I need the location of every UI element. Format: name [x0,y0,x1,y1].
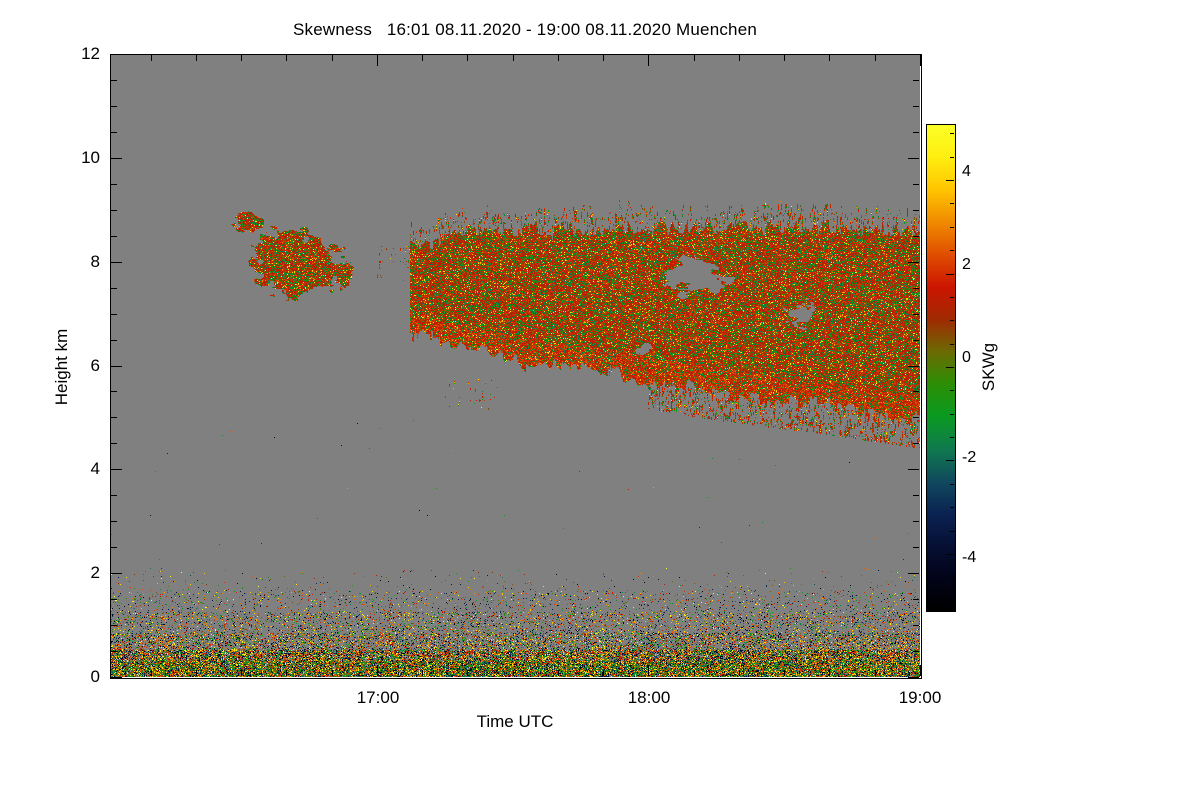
y-axis-title: Height km [52,329,72,406]
tick-mark [603,55,604,61]
tick-mark [111,599,117,600]
tick-mark [913,106,919,107]
tick-mark [908,262,919,263]
tick-mark [694,55,695,61]
tick-mark [950,227,954,228]
tick-mark [946,180,954,181]
tick-mark [913,288,919,289]
y-axis-labels: 12 10 8 6 4 2 0 [0,0,100,800]
tick-mark [920,665,921,676]
tick-mark [111,677,122,678]
tick-mark [111,106,117,107]
tick-mark [950,531,954,532]
tick-mark [950,320,954,321]
tick-mark [913,132,919,133]
tick-mark [950,344,954,345]
tick-mark [913,391,919,392]
tick-mark [950,250,954,251]
tick-mark [950,390,954,391]
tick-mark [913,599,919,600]
tick-mark [111,651,117,652]
tick-mark [196,55,197,61]
tick-mark [739,670,740,676]
tick-mark [422,55,423,61]
tick-mark [111,158,122,159]
tick-mark [694,670,695,676]
tick-mark [422,670,423,676]
tick-mark [913,80,919,81]
x-tick-label: 19:00 [899,688,942,708]
heatmap-plot-area [110,54,920,677]
tick-mark [467,55,468,61]
tick-mark [908,54,919,55]
chart-title: Skewness 16:01 08.11.2020 - 19:00 08.11.… [0,20,1050,40]
y-tick-label: 2 [91,563,100,583]
tick-mark [913,210,919,211]
tick-mark [784,670,785,676]
tick-mark [950,133,954,134]
x-tick-label: 17:00 [357,688,400,708]
y-tick-label: 12 [81,44,100,64]
tick-mark [946,367,954,368]
tick-mark [377,665,378,676]
tick-mark [558,670,559,676]
tick-mark [648,665,649,676]
tick-mark [111,288,117,289]
tick-mark [908,677,919,678]
tick-mark [913,314,919,315]
tick-mark [913,625,919,626]
tick-mark [513,55,514,61]
y-tick-label: 8 [91,252,100,272]
tick-mark [950,157,954,158]
tick-mark [286,670,287,676]
y-tick-label: 0 [91,667,100,687]
tick-mark [286,55,287,61]
tick-mark [111,469,122,470]
y-tick-label: 4 [91,459,100,479]
tick-mark [111,417,117,418]
tick-mark [111,184,117,185]
tick-mark [739,55,740,61]
tick-mark [151,670,152,676]
tick-mark [875,670,876,676]
tick-mark [913,340,919,341]
tick-mark [950,437,954,438]
tick-mark [196,670,197,676]
tick-mark [111,625,117,626]
y-tick-label: 6 [91,356,100,376]
heatmap-canvas [110,54,920,677]
tick-mark [111,547,117,548]
x-axis-title: Time UTC [477,712,554,732]
tick-mark [648,55,649,66]
tick-mark [829,670,830,676]
chart-page: Skewness 16:01 08.11.2020 - 19:00 08.11.… [0,0,1200,800]
colorbar-tick-label: -2 [962,449,976,467]
tick-mark [920,55,921,66]
tick-mark [950,203,954,204]
tick-mark [784,55,785,61]
tick-mark [913,443,919,444]
tick-mark [241,55,242,61]
tick-mark [111,443,117,444]
tick-mark [913,495,919,496]
tick-mark [151,55,152,61]
tick-mark [603,670,604,676]
tick-mark [950,414,954,415]
tick-mark [913,236,919,237]
tick-mark [913,417,919,418]
tick-mark [946,554,954,555]
tick-mark [513,670,514,676]
tick-mark [111,80,117,81]
tick-mark [946,274,954,275]
tick-mark [950,297,954,298]
tick-mark [111,340,117,341]
tick-mark [377,55,378,66]
tick-mark [111,236,117,237]
y-tick-label: 10 [81,148,100,168]
colorbar-tick-label: 4 [962,163,971,181]
tick-mark [950,507,954,508]
tick-mark [111,210,117,211]
tick-mark [111,262,122,263]
colorbar-tick-label: 2 [962,256,971,274]
tick-mark [332,55,333,61]
tick-mark [950,601,954,602]
tick-mark [111,521,117,522]
x-tick-label: 18:00 [628,688,671,708]
colorbar-tick-label: -4 [962,549,976,567]
tick-mark [913,184,919,185]
colorbar-tick-label: 0 [962,349,971,367]
tick-mark [111,132,117,133]
tick-mark [913,651,919,652]
tick-mark [241,670,242,676]
tick-mark [908,158,919,159]
tick-mark [875,55,876,61]
colorbar-title: SKWg [979,343,999,391]
tick-mark [558,55,559,61]
tick-mark [111,54,122,55]
tick-mark [950,577,954,578]
tick-mark [946,460,954,461]
tick-mark [950,484,954,485]
tick-mark [908,573,919,574]
tick-mark [913,547,919,548]
tick-mark [467,670,468,676]
tick-mark [111,495,117,496]
tick-mark [332,670,333,676]
tick-mark [111,573,122,574]
tick-mark [908,366,919,367]
tick-mark [829,55,830,61]
tick-mark [908,469,919,470]
tick-mark [913,521,919,522]
tick-mark [111,314,117,315]
tick-mark [111,391,117,392]
tick-mark [111,366,122,367]
